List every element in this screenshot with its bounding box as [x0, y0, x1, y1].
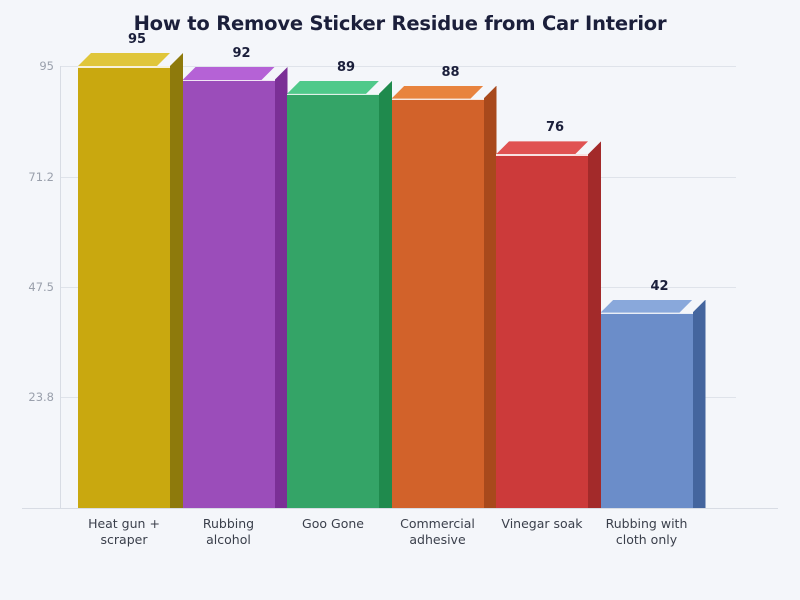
bar-side-face	[170, 53, 183, 508]
bar-edge-highlight	[287, 94, 379, 96]
x-axis-category-label: Heat gun +scraper	[64, 516, 184, 548]
bar-value-label: 95	[91, 32, 183, 47]
bar-edge-highlight	[183, 80, 275, 82]
bar-value-label: 88	[405, 65, 497, 80]
bar-3[interactable]	[287, 81, 379, 508]
bar-front-face	[601, 313, 693, 508]
bar-front-face	[496, 154, 588, 508]
x-axis-category-label: Vinegar soak	[482, 516, 602, 532]
category-label-line2: cloth only	[587, 532, 707, 548]
category-label-line1: Goo Gone	[273, 516, 393, 532]
x-axis-category-label: Rubbingalcohol	[169, 516, 289, 548]
category-label-line2: adhesive	[378, 532, 498, 548]
bar-edge-highlight	[601, 313, 693, 315]
y-axis-tick-label: 23.8	[2, 390, 54, 404]
bar-front-face	[287, 94, 379, 508]
y-axis-tick-label: 71.2	[2, 170, 54, 184]
bar-value-label: 89	[300, 60, 392, 75]
x-axis-category-label: Commercialadhesive	[378, 516, 498, 548]
category-label-line1: Vinegar soak	[482, 516, 602, 532]
bar-4[interactable]	[392, 86, 484, 508]
y-axis-tick-label: 95	[2, 59, 54, 73]
category-label-line1: Rubbing	[169, 516, 289, 532]
x-axis-category-label: Goo Gone	[273, 516, 393, 532]
bar-front-face	[78, 66, 170, 508]
bar-edge-highlight	[496, 154, 588, 156]
bar-top-face	[287, 81, 379, 94]
bar-value-label: 42	[614, 279, 706, 294]
bar-top-face	[183, 67, 275, 80]
category-label-line2: alcohol	[169, 532, 289, 548]
bar-edge-highlight	[392, 99, 484, 101]
y-axis-line	[60, 66, 61, 509]
bar-side-face	[484, 86, 497, 508]
bar-1[interactable]	[78, 53, 170, 508]
bar-6[interactable]	[601, 300, 693, 508]
bar-value-label: 76	[509, 120, 601, 135]
bar-side-face	[588, 141, 601, 508]
y-axis-tick-label: 47.5	[2, 280, 54, 294]
category-label-line2: scraper	[64, 532, 184, 548]
bar-value-label: 92	[196, 46, 288, 61]
bar-top-face	[78, 53, 170, 66]
chart-container: How to Remove Sticker Residue from Car I…	[0, 0, 800, 600]
bar-front-face	[392, 99, 484, 508]
bar-side-face	[693, 300, 706, 508]
bar-side-face	[275, 67, 288, 508]
bar-5[interactable]	[496, 141, 588, 508]
x-axis-line	[22, 508, 778, 509]
y-axis-tick-labels: 23.847.571.295	[0, 0, 54, 600]
bar-front-face	[183, 80, 275, 508]
category-label-line1: Commercial	[378, 516, 498, 532]
bar-top-face	[392, 86, 484, 99]
bar-side-face	[379, 81, 392, 508]
bar-edge-highlight	[78, 66, 170, 68]
bar-top-face	[496, 141, 588, 154]
category-label-line1: Rubbing with	[587, 516, 707, 532]
bar-top-face	[601, 300, 693, 313]
x-axis-category-label: Rubbing withcloth only	[587, 516, 707, 548]
category-label-line1: Heat gun +	[64, 516, 184, 532]
bar-2[interactable]	[183, 67, 275, 508]
